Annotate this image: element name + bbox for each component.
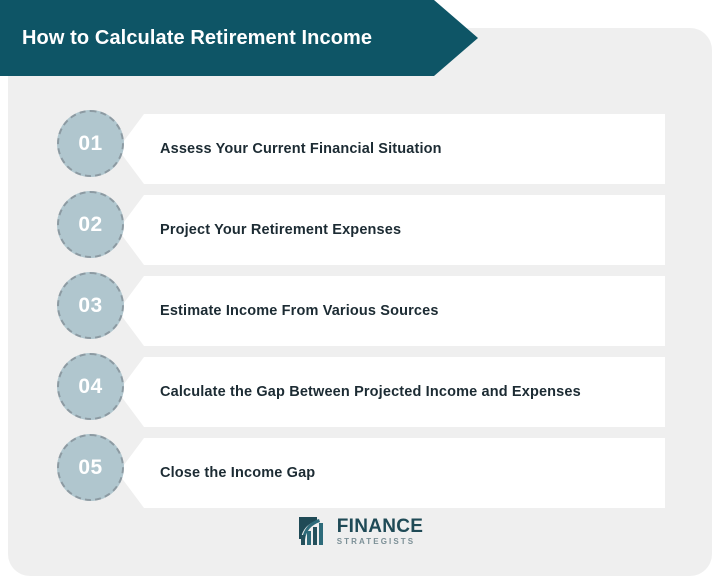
header-banner: How to Calculate Retirement Income	[0, 0, 478, 76]
step-number: 01	[78, 132, 102, 156]
step-badge: 04	[57, 353, 124, 420]
step-card: Assess Your Current Financial Situation	[118, 114, 665, 184]
logo-secondary-text: STRATEGISTS	[337, 538, 424, 546]
logo-primary-text: FINANCE	[337, 517, 424, 536]
step-number: 03	[78, 294, 102, 318]
step-card: Estimate Income From Various Sources	[118, 276, 665, 346]
step-card: Project Your Retirement Expenses	[118, 195, 665, 265]
step-label: Project Your Retirement Expenses	[118, 222, 401, 238]
step-number: 02	[78, 213, 102, 237]
step-badge: 02	[57, 191, 124, 258]
logo-wordmark: FINANCE STRATEGISTS	[337, 517, 424, 546]
list-item: Project Your Retirement Expenses 02	[0, 191, 720, 272]
infographic-root: How to Calculate Retirement Income Asses…	[0, 0, 720, 582]
step-number: 04	[78, 375, 102, 399]
step-label: Calculate the Gap Between Projected Inco…	[118, 384, 581, 400]
step-card: Close the Income Gap	[118, 438, 665, 508]
step-label: Estimate Income From Various Sources	[118, 303, 439, 319]
list-item: Calculate the Gap Between Projected Inco…	[0, 353, 720, 434]
step-card: Calculate the Gap Between Projected Inco…	[118, 357, 665, 427]
step-badge: 01	[57, 110, 124, 177]
list-item: Assess Your Current Financial Situation …	[0, 110, 720, 191]
steps-list: Assess Your Current Financial Situation …	[0, 110, 720, 515]
logo-inner: FINANCE STRATEGISTS	[297, 516, 424, 546]
step-badge: 05	[57, 434, 124, 501]
brand-logo: FINANCE STRATEGISTS	[0, 516, 720, 546]
step-label: Close the Income Gap	[118, 465, 315, 481]
list-item: Estimate Income From Various Sources 03	[0, 272, 720, 353]
list-item: Close the Income Gap 05	[0, 434, 720, 515]
step-number: 05	[78, 456, 102, 480]
step-badge: 03	[57, 272, 124, 339]
bar-chart-arc-icon	[297, 516, 331, 546]
step-label: Assess Your Current Financial Situation	[118, 141, 442, 157]
page-title: How to Calculate Retirement Income	[0, 27, 372, 50]
